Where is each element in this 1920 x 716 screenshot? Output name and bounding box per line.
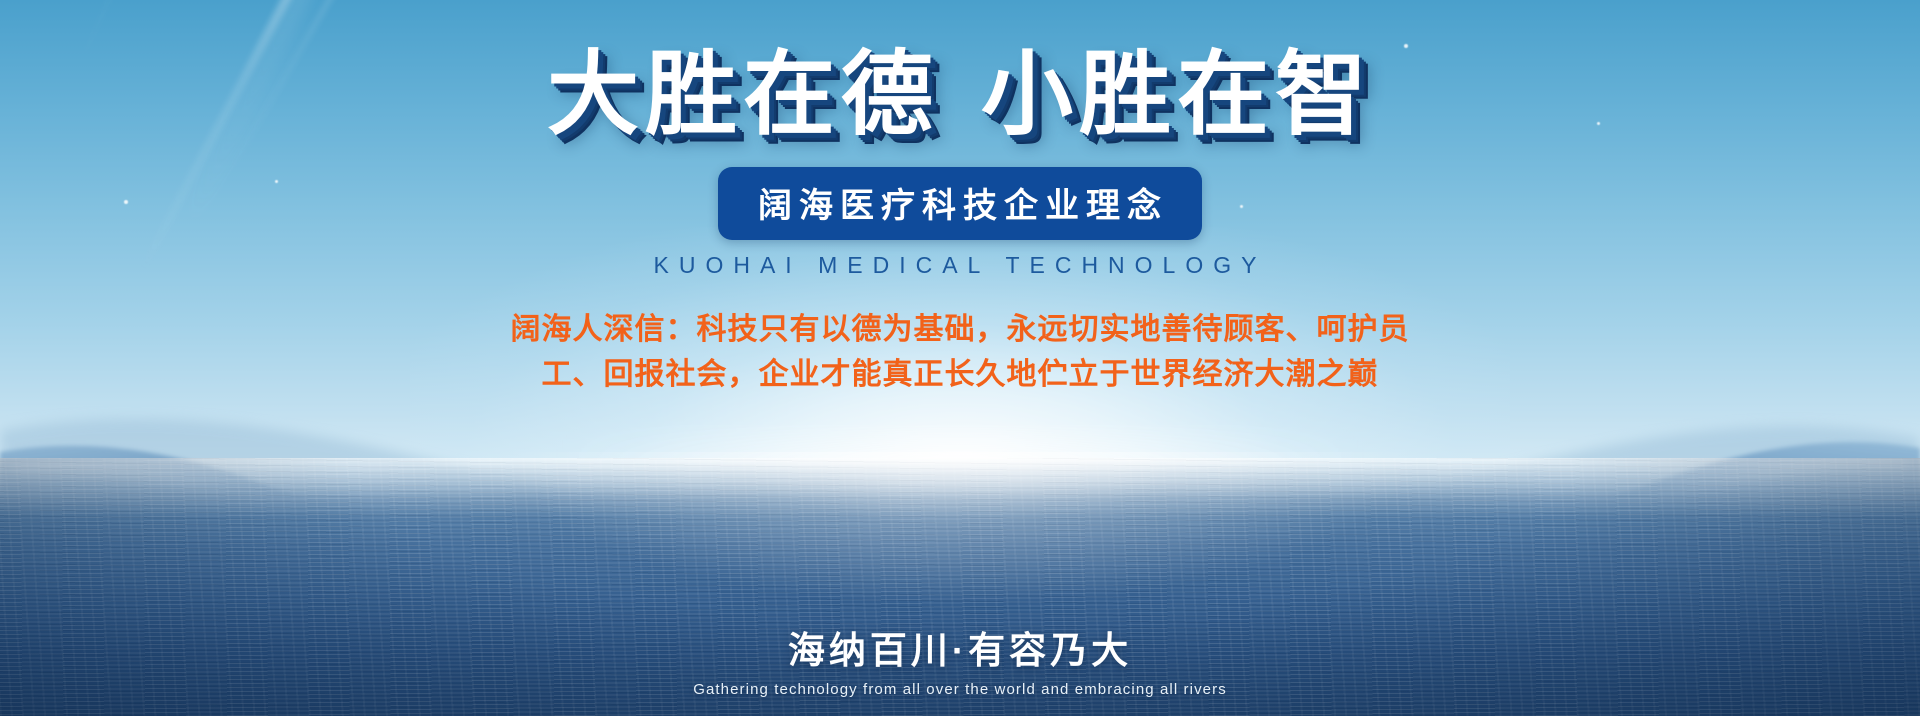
footer-slogan-en: Gathering technology from all over the w…: [0, 681, 1920, 698]
philosophy-statement: 阔海人深信：科技只有以德为基础，永远切实地善待顾客、呵护员 工、回报社会，企业才…: [511, 307, 1410, 398]
hero-banner: 大胜在德小胜在智 阔海医疗科技企业理念 KUOHAI MEDICAL TECHN…: [0, 0, 1920, 716]
company-philosophy-badge: 阔海医疗科技企业理念: [718, 167, 1202, 240]
banner-headline: 大胜在德小胜在智: [547, 47, 1373, 145]
footer-slogan-block: 海纳百川·有容乃大 Gathering technology from all …: [0, 620, 1920, 698]
statement-line-1: 阔海人深信：科技只有以德为基础，永远切实地善待顾客、呵护员: [511, 307, 1410, 353]
headline-part-1: 大胜在德: [547, 44, 939, 146]
statement-line-2: 工、回报社会，企业才能真正长久地伫立于世界经济大潮之巅: [511, 352, 1410, 398]
footer-slogan-cn: 海纳百川·有容乃大: [0, 620, 1920, 674]
headline-part-2: 小胜在智: [981, 44, 1373, 146]
english-subtitle: KUOHAI MEDICAL TECHNOLOGY: [654, 252, 1267, 279]
banner-content: 大胜在德小胜在智 阔海医疗科技企业理念 KUOHAI MEDICAL TECHN…: [0, 0, 1920, 716]
